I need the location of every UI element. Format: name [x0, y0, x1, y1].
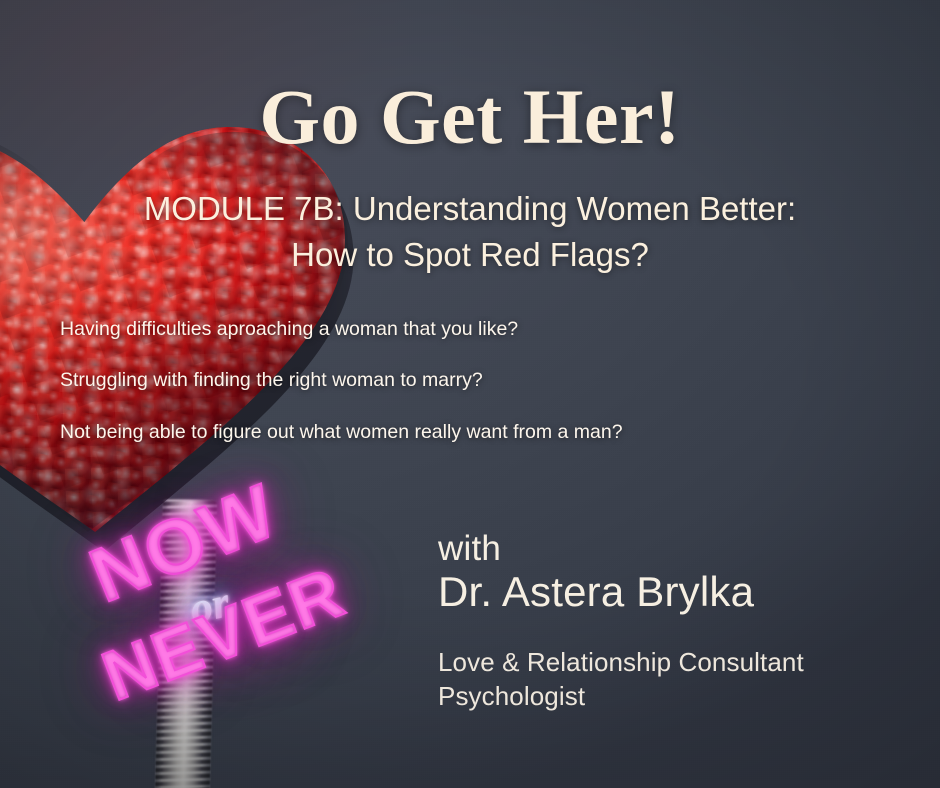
presenter-credentials: Love & Relationship Consultant Psycholog… [438, 645, 804, 714]
pain-point-list: Having difficulties aproaching a woman t… [60, 318, 890, 444]
credentials-line-2: Psychologist [438, 679, 804, 713]
poster-title: Go Get Her! [0, 78, 940, 156]
module-heading: MODULE 7B: Understanding Women Better: H… [52, 186, 888, 277]
promo-poster: NOW or NEVER Go Get Her! MODULE 7B: Unde… [0, 0, 940, 788]
neon-sign: NOW or NEVER [82, 482, 362, 732]
module-heading-line-2: How to Spot Red Flags? [52, 232, 888, 278]
pain-point-item-2: Struggling with finding the right woman … [60, 369, 890, 392]
presenter-name: Dr. Astera Brylka [438, 567, 754, 617]
credentials-line-1: Love & Relationship Consultant [438, 645, 804, 679]
module-heading-line-1: MODULE 7B: Understanding Women Better: [144, 190, 796, 227]
pain-point-item-3: Not being able to figure out what women … [60, 421, 890, 444]
presenter-with-label: with [438, 528, 754, 569]
pain-point-item-1: Having difficulties aproaching a woman t… [60, 318, 890, 341]
presenter-block: with Dr. Astera Brylka [438, 528, 754, 618]
